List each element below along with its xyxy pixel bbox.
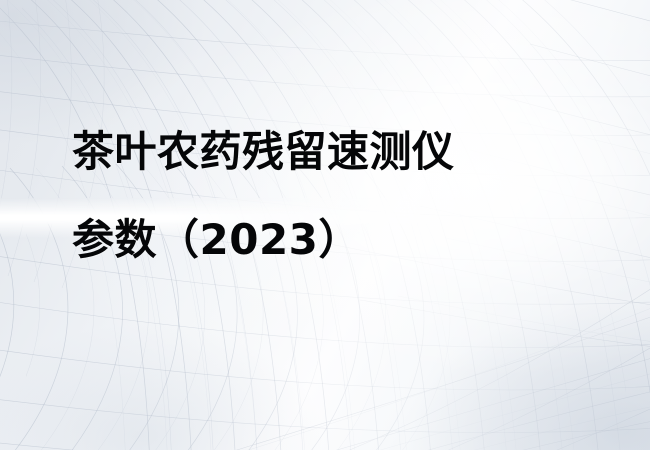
title-banner: 茶叶农药残留速测仪 参数（2023） (0, 0, 650, 450)
page-title: 茶叶农药残留速测仪 参数（2023） (72, 131, 592, 261)
title-line-primary: 茶叶农药残留速测仪 (72, 131, 592, 173)
title-line-secondary: 参数（2023） (72, 219, 592, 261)
